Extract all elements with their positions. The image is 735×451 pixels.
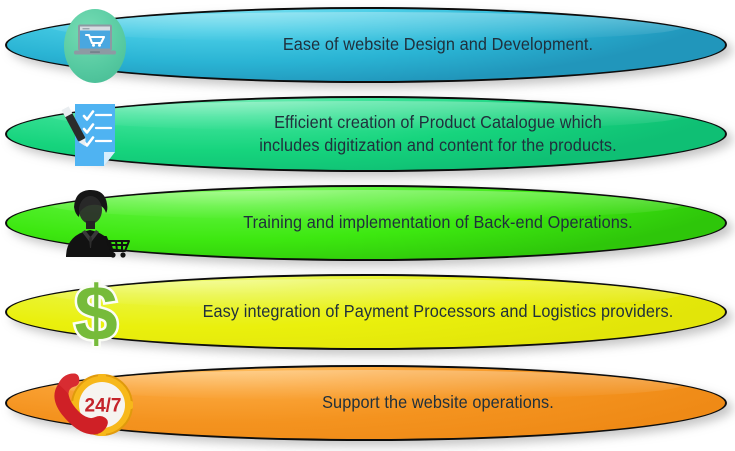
clock-24-7-phone-support-icon: 24/7 [52,361,138,447]
list-item[interactable]: Efficient creation of Product Catalogue … [0,92,735,178]
list-item[interactable]: Training and implementation of Back-end … [0,181,735,267]
laptop-glyph [74,24,116,57]
list-item[interactable]: Easy integration of Payment Processors a… [0,270,735,356]
checklist-document-pen-icon [52,92,138,178]
checklist-document-glyph [72,104,118,166]
support-badge-text: 24/7 [85,396,122,417]
list-item[interactable]: Support the website operations. 24/7 [0,361,735,447]
dollar-sign-glyph: $ [66,274,126,352]
person-with-shopping-cart-icon [52,181,138,267]
support-badge-glyph: 24/7 [58,363,140,447]
dollar-sign-icon: $ [52,270,138,356]
laptop-shopping-cart-icon [52,3,138,89]
infographic-board: Ease of website Design and Development. [0,0,735,451]
person-silhouette-glyph [58,185,138,265]
svg-text:$: $ [74,269,117,357]
list-item[interactable]: Ease of website Design and Development. [0,3,735,89]
